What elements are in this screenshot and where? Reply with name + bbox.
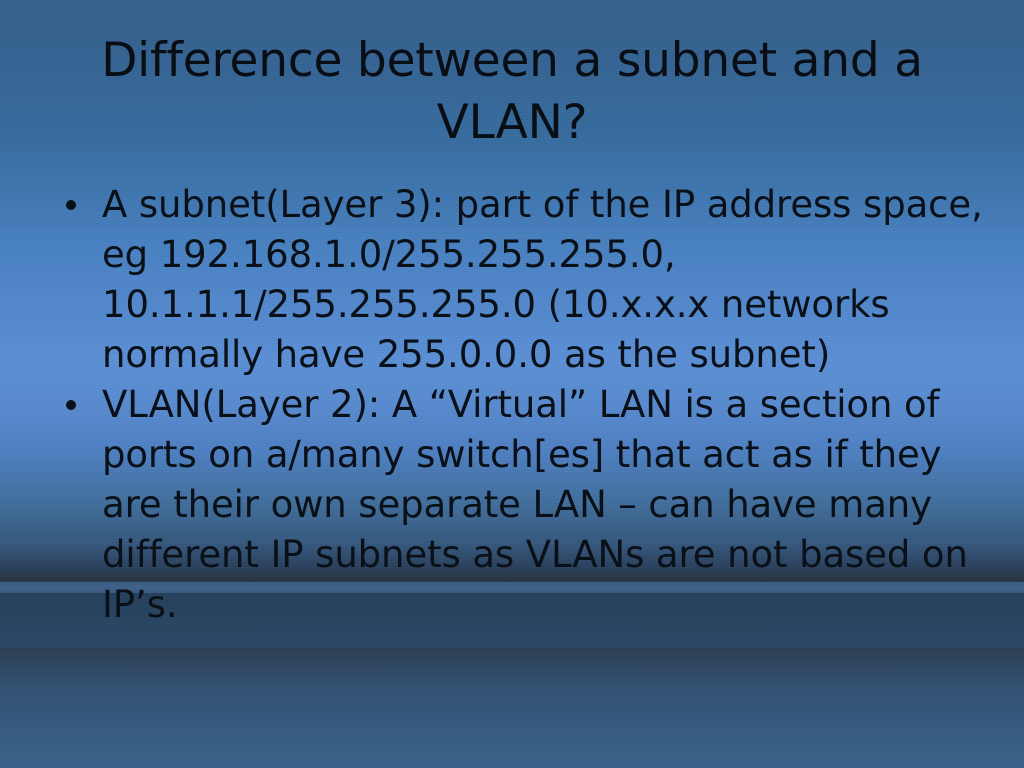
bullet-dot-icon <box>66 400 76 410</box>
slide-title: Difference between a subnet and a VLAN? <box>60 30 964 154</box>
bullet-item: VLAN(Layer 2): A “Virtual” LAN is a sect… <box>56 380 996 630</box>
bullet-item-text: VLAN(Layer 2): A “Virtual” LAN is a sect… <box>102 380 996 630</box>
bullet-item: A subnet(Layer 3): part of the IP addres… <box>56 180 996 380</box>
bullet-dot-icon <box>66 200 76 210</box>
slide-body: A subnet(Layer 3): part of the IP addres… <box>56 180 996 630</box>
presentation-slide: Difference between a subnet and a VLAN? … <box>0 0 1024 768</box>
bullet-item-text: A subnet(Layer 3): part of the IP addres… <box>102 180 996 380</box>
